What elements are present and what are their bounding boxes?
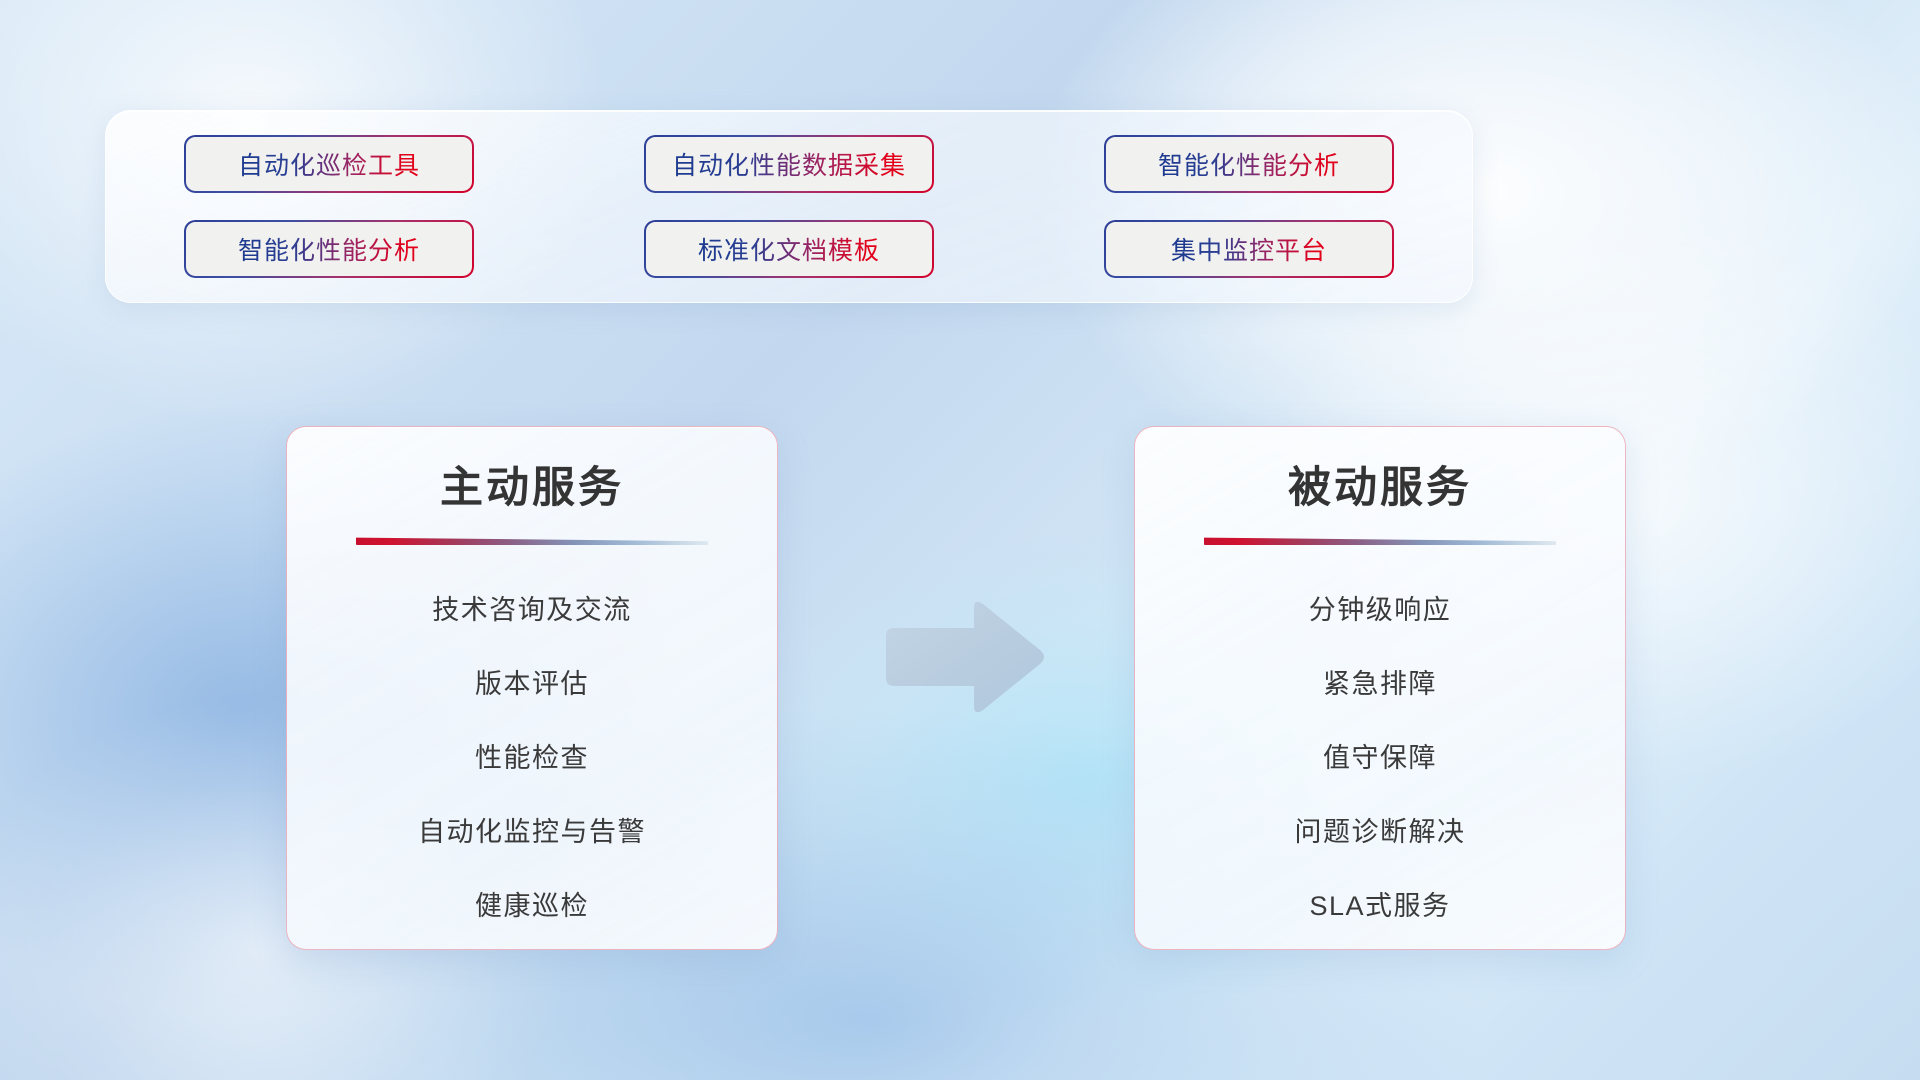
list-item[interactable]: 分钟级响应 [1135,583,1625,638]
capability-pill-label: 标准化文档模板 [698,231,880,267]
card-title: 主动服务 [287,453,777,515]
list-item[interactable]: 值守保障 [1135,731,1625,786]
capability-pill-label: 智能化性能分析 [1158,146,1340,182]
capability-pill-intelligent-performance-analysis[interactable]: 智能化性能分析 [184,220,474,278]
service-list-proactive: 技术咨询及交流 版本评估 性能检查 自动化监控与告警 健康巡检 [287,583,777,934]
divider-bar [1204,536,1556,545]
list-item[interactable]: 问题诊断解决 [1135,805,1625,860]
capability-pill-label: 自动化性能数据采集 [672,146,906,182]
arrow-right-icon [878,598,1046,716]
capability-pill-label: 智能化性能分析 [238,231,420,267]
capability-row-1: 自动化巡检工具 自动化性能数据采集 智能化性能分析 [184,135,1394,193]
capability-pill-label: 自动化巡检工具 [238,146,420,182]
capability-pill-intelligent-performance-analysis-top[interactable]: 智能化性能分析 [1104,135,1394,193]
capability-panel: 自动化巡检工具 自动化性能数据采集 智能化性能分析 智能化性能分析 标准化文档模… [105,110,1473,303]
service-card-proactive: 主动服务 技术咨询及交流 版本评估 性能检查 自动化监控与告警 健康巡检 [286,426,778,950]
divider-bar [356,536,708,545]
list-item[interactable]: 技术咨询及交流 [287,583,777,638]
capability-pill-automated-performance-data-collection[interactable]: 自动化性能数据采集 [644,135,934,193]
list-item[interactable]: 紧急排障 [1135,657,1625,712]
list-item[interactable]: 性能检查 [287,731,777,786]
capability-pill-standardized-document-template[interactable]: 标准化文档模板 [644,220,934,278]
list-item[interactable]: 健康巡检 [287,879,777,934]
list-item[interactable]: 自动化监控与告警 [287,805,777,860]
card-title-divider [1204,536,1556,545]
service-card-reactive: 被动服务 分钟级响应 紧急排障 值守保障 问题诊断解决 SLA式服务 [1134,426,1626,950]
capability-row-2: 智能化性能分析 标准化文档模板 集中监控平台 [184,220,1394,278]
service-list-reactive: 分钟级响应 紧急排障 值守保障 问题诊断解决 SLA式服务 [1135,583,1625,934]
card-title-divider [356,536,708,545]
card-title: 被动服务 [1135,453,1625,515]
capability-pill-centralized-monitoring-platform[interactable]: 集中监控平台 [1104,220,1394,278]
capability-pill-label: 集中监控平台 [1171,231,1327,267]
list-item[interactable]: SLA式服务 [1135,879,1625,934]
list-item[interactable]: 版本评估 [287,657,777,712]
capability-pill-automated-inspection-tool[interactable]: 自动化巡检工具 [184,135,474,193]
